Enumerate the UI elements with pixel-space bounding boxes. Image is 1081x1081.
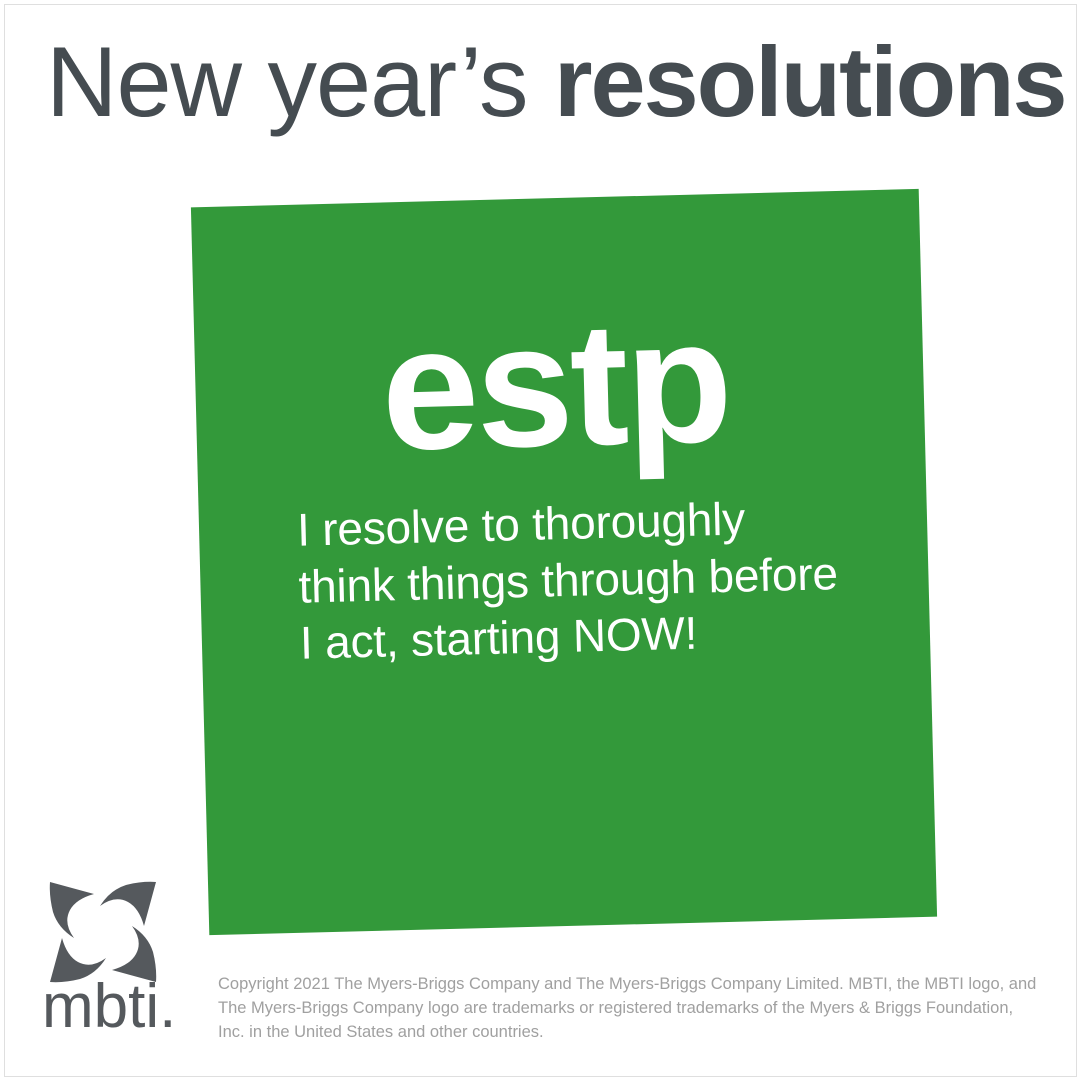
resolution-text: I resolve to thoroughly think things thr…	[296, 488, 840, 671]
mbti-logo: mbti.	[38, 876, 178, 1036]
resolution-card: estp I resolve to thoroughly think thing…	[200, 186, 942, 930]
resolution-card-content: estp I resolve to thoroughly think thing…	[191, 189, 937, 935]
page-title-bold: resolutions	[554, 26, 1066, 137]
mbti-wordmark: mbti.	[42, 976, 176, 1038]
copyright-notice: Copyright 2021 The Myers-Briggs Company …	[218, 972, 1038, 1044]
page-title-light: New year’s	[46, 26, 554, 137]
poster-canvas: New year’s resolutions estp I resolve to…	[0, 0, 1081, 1081]
page-title: New year’s resolutions	[46, 22, 1046, 142]
personality-type-code: estp	[379, 294, 731, 478]
